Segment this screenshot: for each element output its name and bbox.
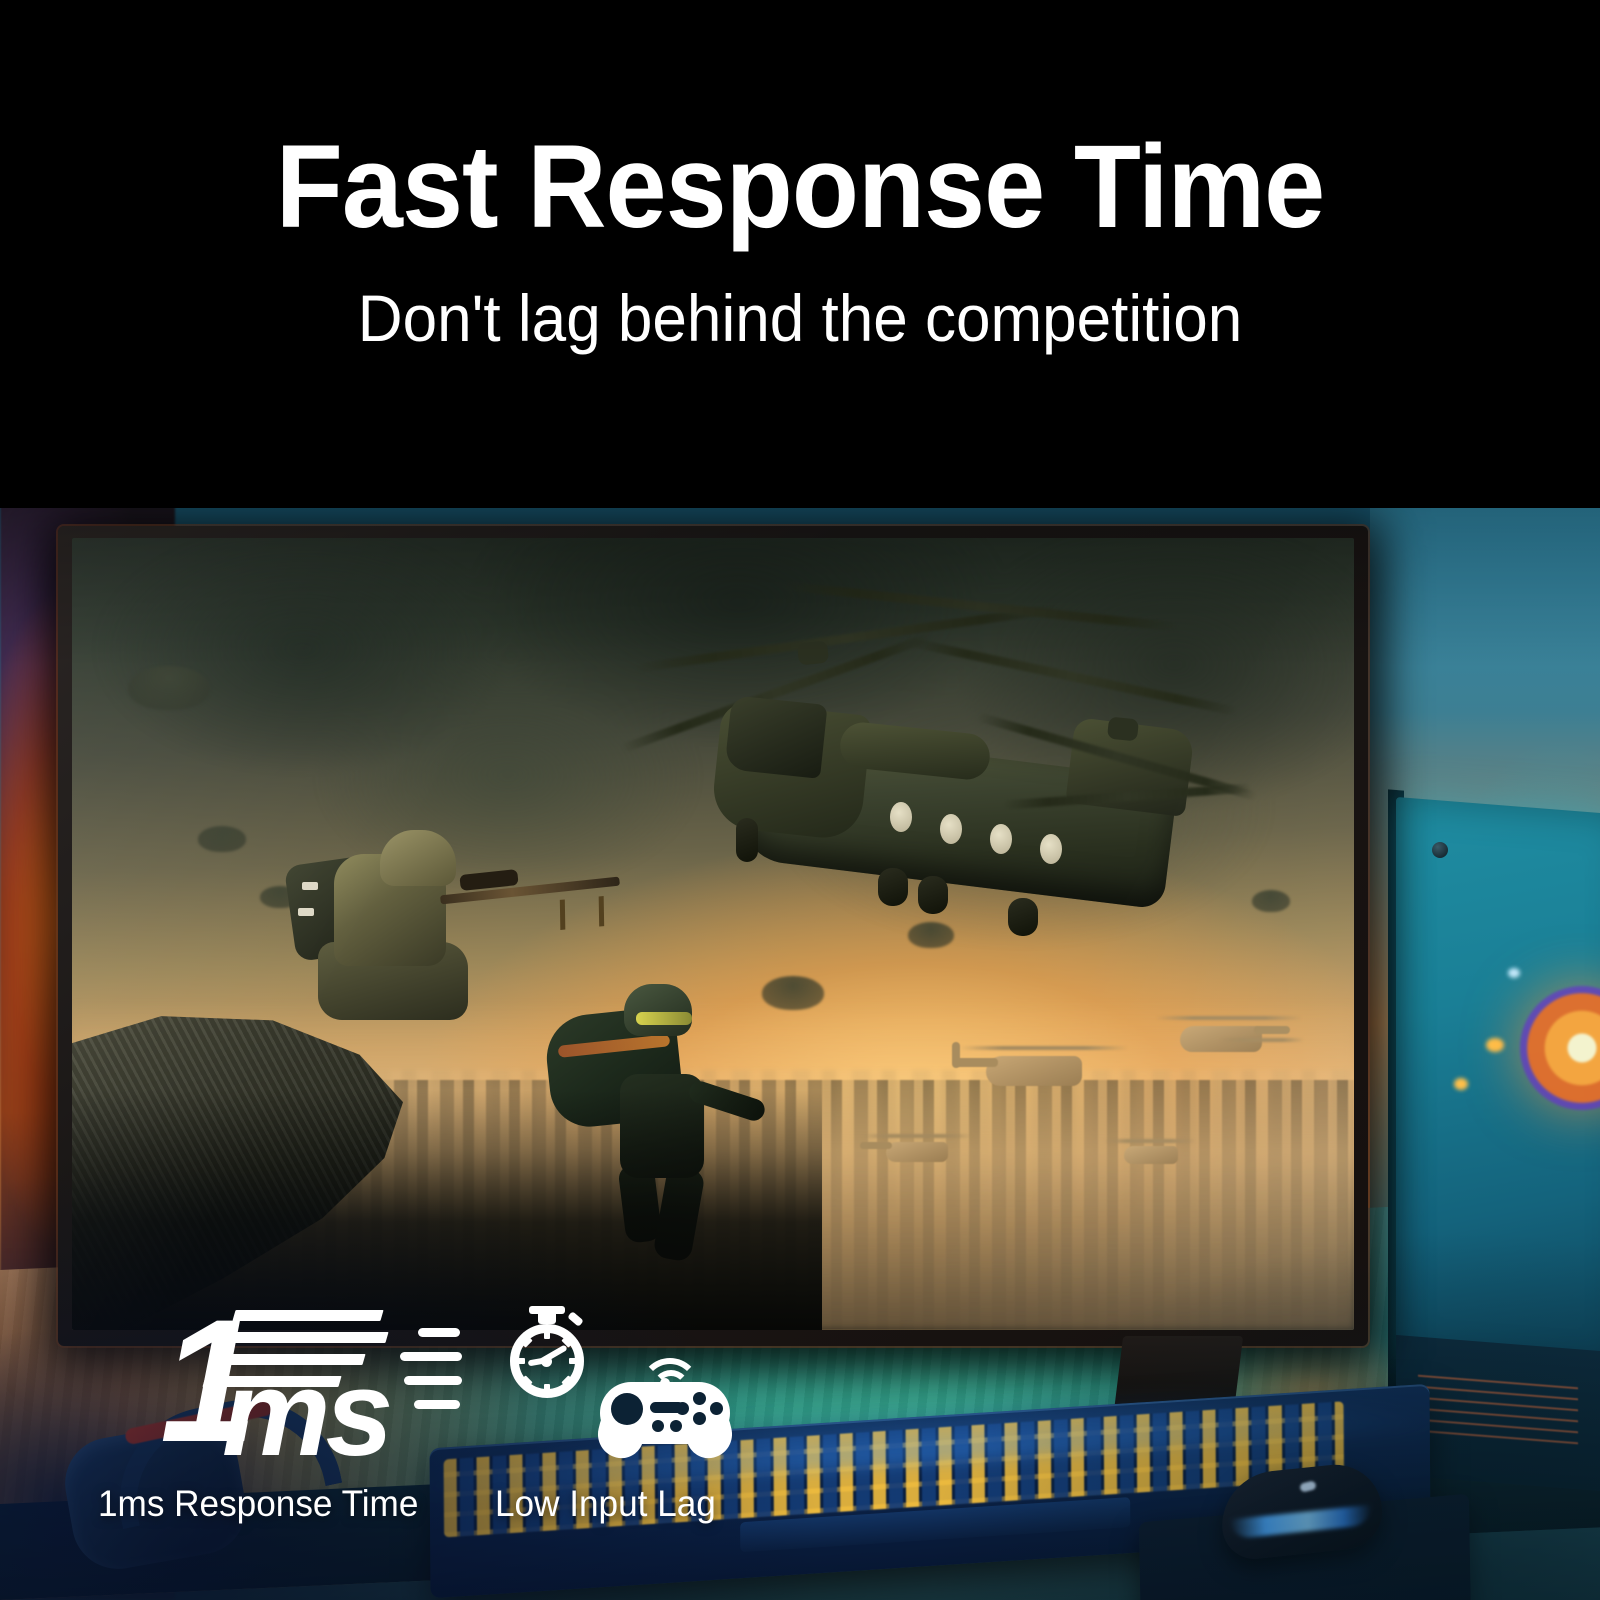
distant-helicopter — [860, 1126, 972, 1174]
speed-lines-icon — [232, 1310, 383, 1321]
distant-helicopter — [1102, 1132, 1198, 1174]
motion-lines-icon — [400, 1352, 462, 1361]
pc-power-button-icon[interactable] — [1432, 842, 1448, 858]
parachute — [198, 826, 246, 852]
headline-banner: Fast Response Time Don't lag behind the … — [0, 0, 1600, 508]
tower-light-spark — [1454, 1078, 1468, 1090]
motion-lines-icon — [404, 1376, 462, 1385]
gamepad-icon — [600, 1352, 730, 1460]
monitor-screen — [72, 538, 1354, 1330]
motion-lines-icon — [414, 1400, 460, 1409]
chinook-helicopter — [672, 596, 1232, 1026]
gaming-monitor — [58, 526, 1368, 1346]
page-subtitle: Don't lag behind the competition — [48, 285, 1552, 351]
sniper-soldier — [272, 824, 552, 1044]
badge-caption-input-lag: Low Input Lag — [495, 1485, 716, 1522]
distant-helicopter — [952, 1036, 1122, 1106]
page-title: Fast Response Time — [56, 128, 1544, 246]
product-feature-banner: Fast Response Time Don't lag behind the … — [0, 0, 1600, 1600]
badge-caption-response-time: 1ms Response Time — [98, 1485, 418, 1522]
motion-lines-icon — [418, 1328, 460, 1337]
tower-light-spark — [1486, 1038, 1504, 1052]
speed-lines-icon — [220, 1332, 388, 1343]
logo-unit: ms — [222, 1352, 388, 1474]
one-ms-logo: 1 ms — [160, 1288, 420, 1458]
tower-light-spark — [1508, 968, 1520, 978]
feature-badges: 1 ms 1ms Response Time — [0, 1280, 1600, 1600]
parachute — [128, 666, 210, 710]
parachute — [1252, 890, 1290, 912]
stopwatch-icon — [498, 1302, 588, 1402]
